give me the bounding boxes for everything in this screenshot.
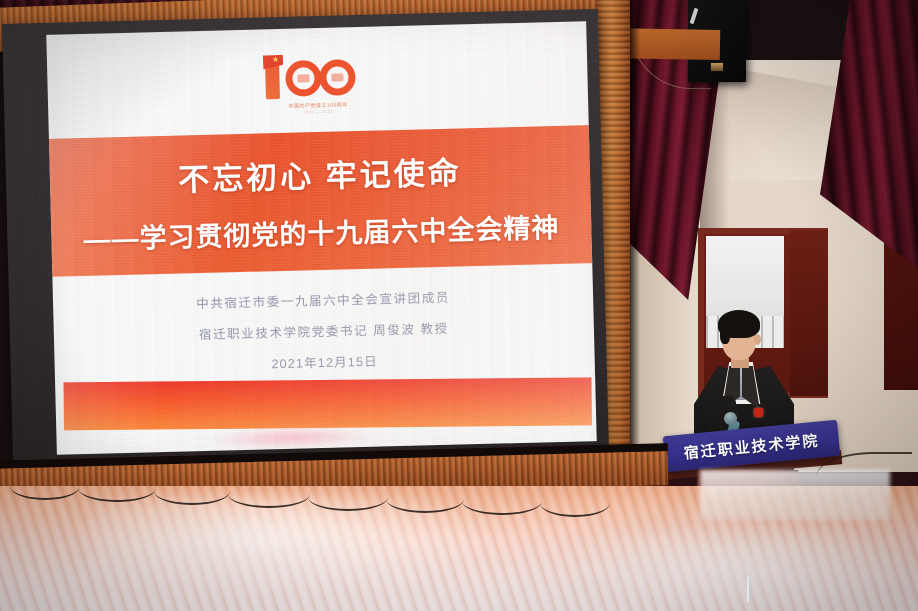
- red-lapel-pin-icon: [754, 408, 763, 417]
- floor-glare-left: [90, 496, 510, 606]
- logo-zero-inner-second: [331, 73, 343, 81]
- slide-title-band: 不忘初心 牢记使命 ——学习贯彻党的十九届六中全会精神: [49, 125, 592, 277]
- logo-caption: 中国共产党成立100周年: [258, 101, 378, 111]
- floor-cable: [78, 474, 156, 502]
- floor-cable: [228, 480, 310, 508]
- floor-glare-right: [560, 520, 918, 611]
- floor-cable: [540, 489, 610, 517]
- presentation-slide: ★ 中国共产党成立100周年 1921 — 2021 不忘初心 牢记使命 ——学…: [46, 21, 596, 455]
- speaker-handle-icon: [690, 8, 699, 24]
- logo-digit-zero-first: [285, 60, 322, 97]
- credit-line-2: 宿迁职业技术学院党委书记 周俊波 教授: [54, 314, 594, 347]
- presenter-hair: [718, 310, 760, 338]
- slide-bottom-bar: [63, 377, 591, 430]
- floor-cable: [462, 487, 542, 515]
- logo-digit-one: [265, 57, 280, 99]
- logo-digit-zero-second: [319, 59, 356, 96]
- floor-cable: [308, 483, 388, 511]
- presenter-ear: [754, 334, 761, 345]
- credit-line-1: 中共宿迁市委一九届六中全会宣讲团成员: [53, 283, 593, 316]
- logo-caption-secondary: 1921 — 2021: [258, 109, 378, 116]
- floor-cable: [154, 477, 230, 505]
- slide-title-subtitle: ——学习贯彻党的十九届六中全会精神: [83, 206, 560, 257]
- hammer-sickle-icon: ★: [272, 56, 279, 63]
- floor-cable: [386, 485, 464, 513]
- logo-mark: ★: [257, 55, 378, 100]
- cpc-100th-anniversary-logo: ★ 中国共产党成立100周年 1921 — 2021: [257, 55, 378, 116]
- slide-credits: 中共宿迁市委一九届六中全会宣讲团成员 宿迁职业技术学院党委书记 周俊波 教授 2…: [53, 283, 595, 378]
- slide-date: 2021年12月15日: [54, 345, 594, 378]
- slide-title-main: 不忘初心 牢记使命: [178, 147, 463, 199]
- floor-cable: [10, 472, 80, 500]
- crest-vertical-bar: [747, 576, 749, 602]
- logo-zero-inner-first: [297, 74, 309, 82]
- projection-screen-frame: ★ 中国共产党成立100周年 1921 — 2021 不忘初心 牢记使命 ——学…: [2, 9, 609, 472]
- auditorium-scene: ★ 中国共产党成立100周年 1921 — 2021 不忘初心 牢记使命 ——学…: [0, 0, 918, 611]
- slide-bottom-glow: [206, 425, 377, 451]
- speaker-badge-icon: [710, 62, 724, 72]
- pillar-shadow: [630, 0, 640, 492]
- party-flag-icon: ★: [263, 55, 283, 70]
